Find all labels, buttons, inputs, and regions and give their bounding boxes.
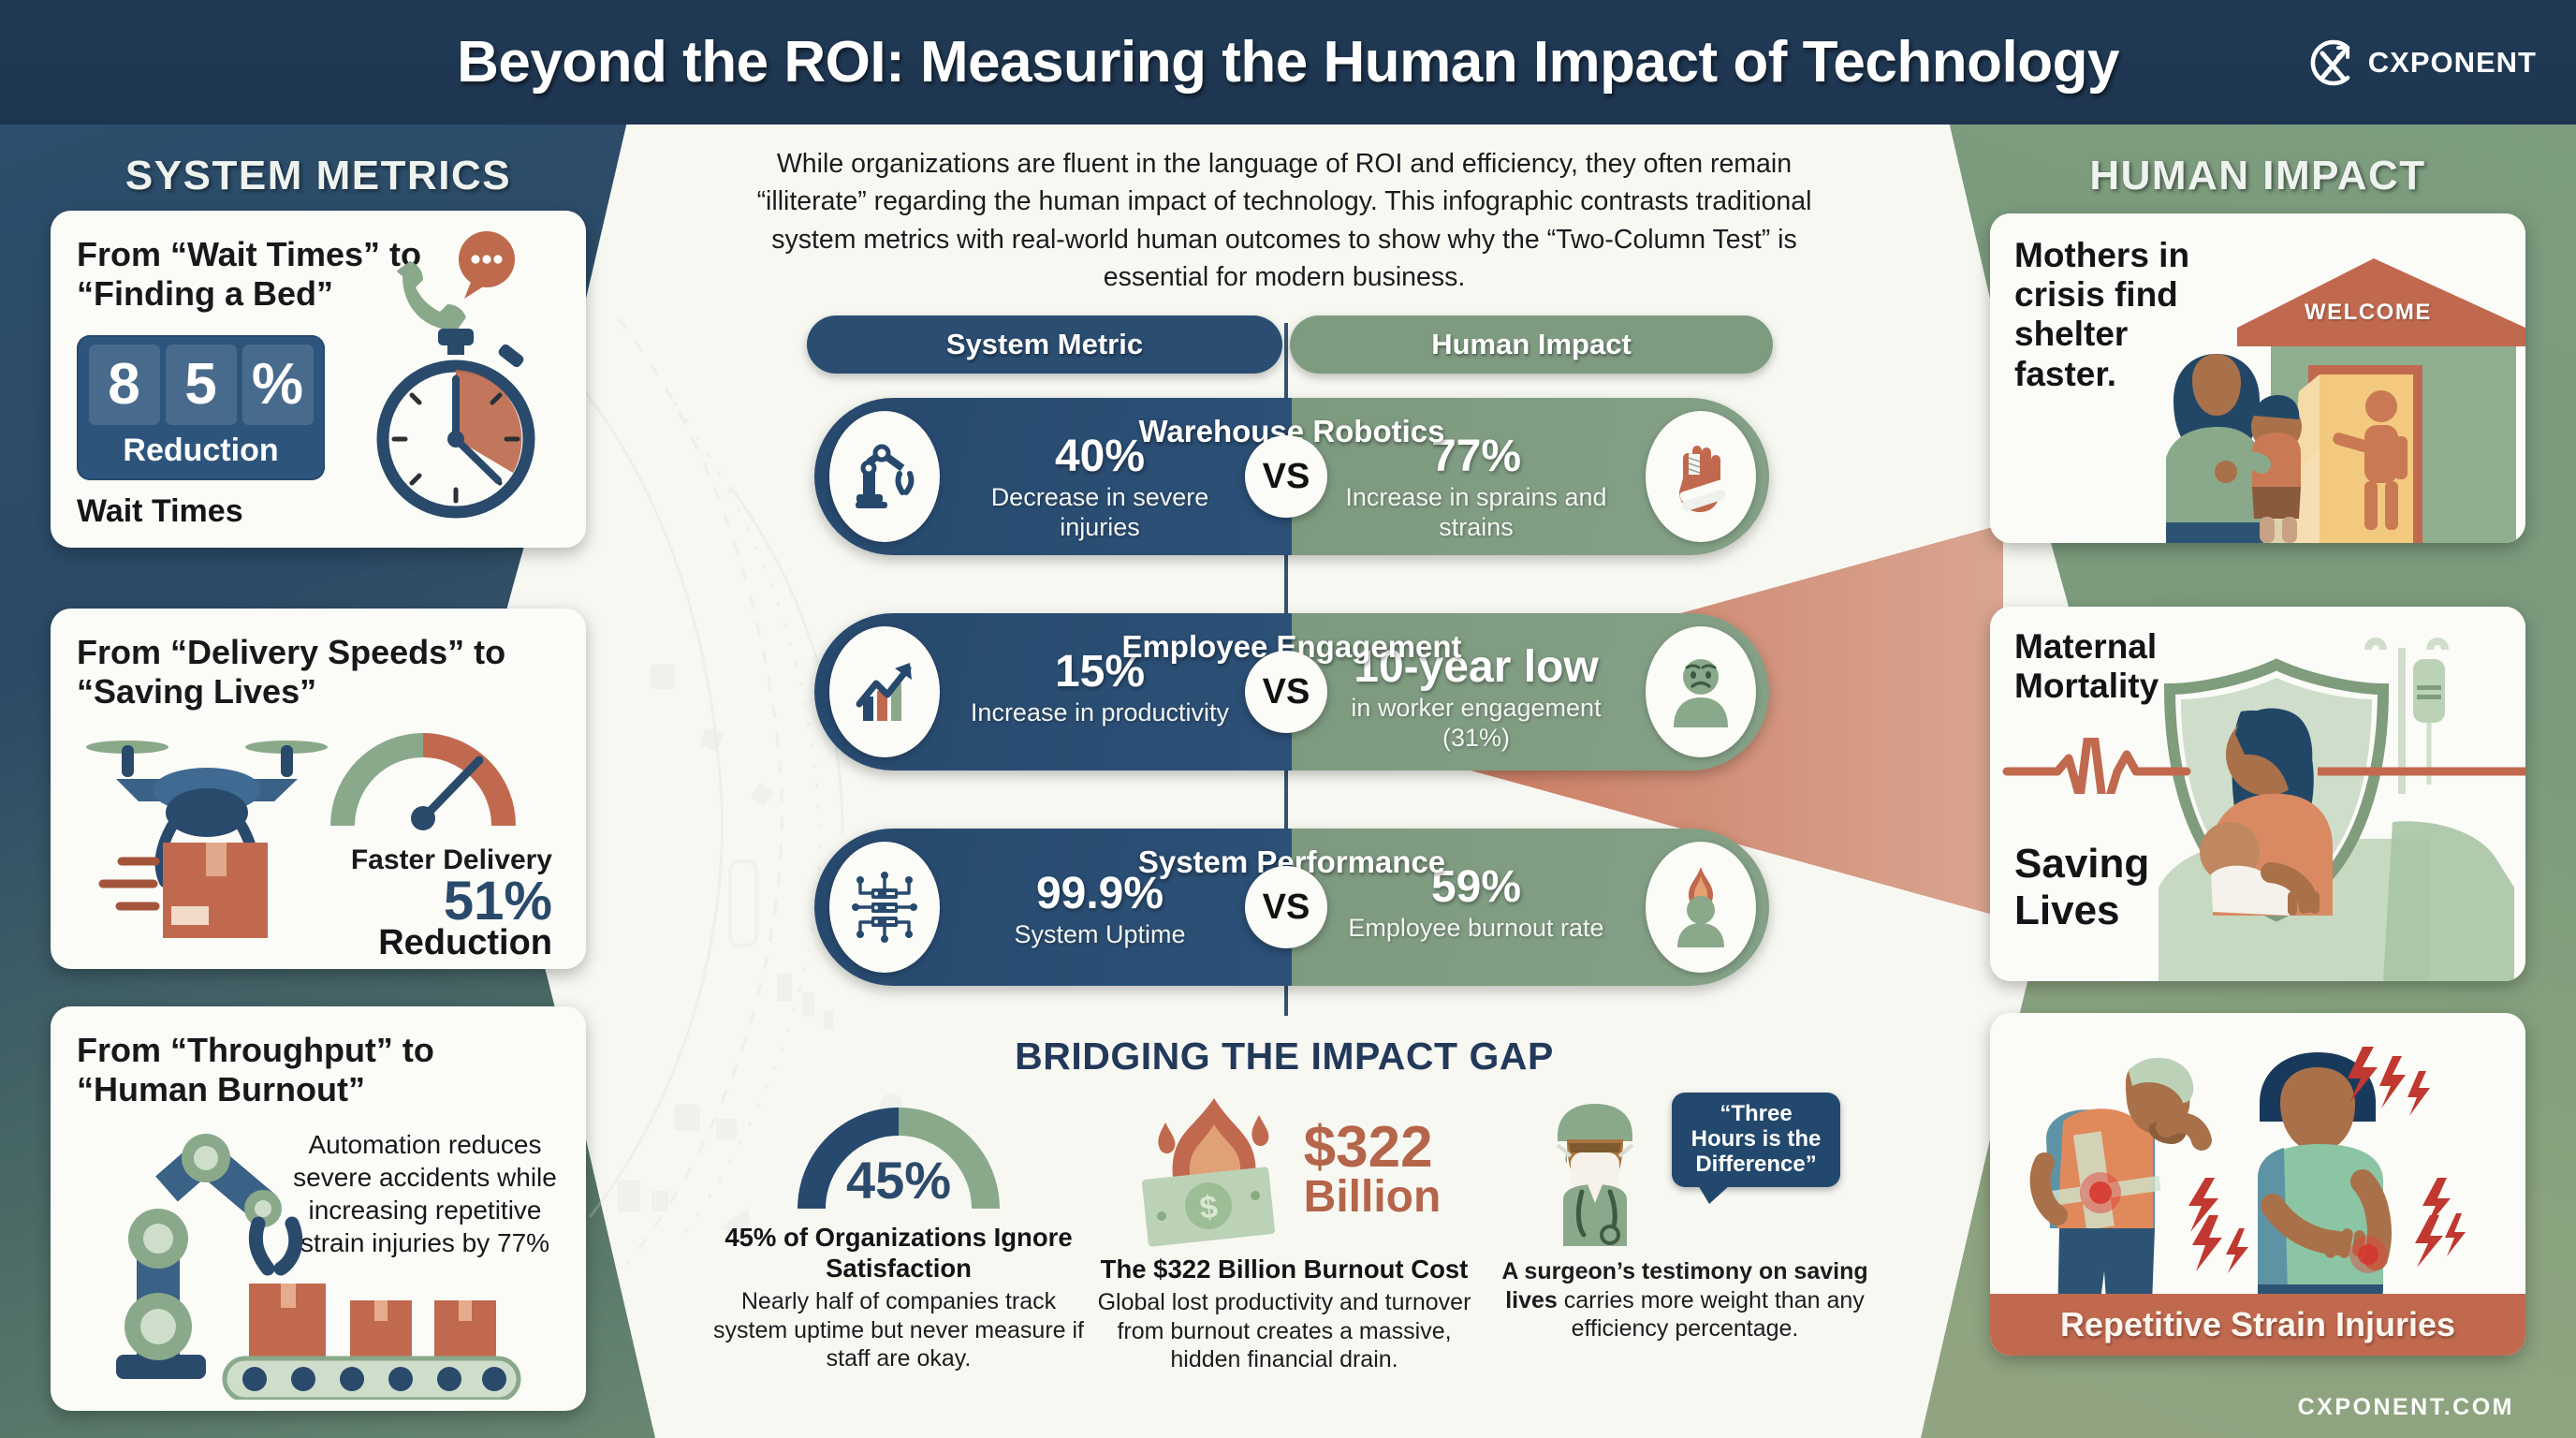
item-heading: The $322 Billion Burnout Cost [1097,1254,1471,1284]
welcome-sign-label: WELCOME [2305,300,2432,326]
stat-value: 77% [1340,433,1612,480]
flip-counter: 8 5 % Reduction [77,335,325,480]
item-body: Nearly half of companies track system up… [711,1287,1086,1373]
donut-chart-icon: 45% [791,1091,1006,1214]
robot-arm-icon [64,1119,586,1400]
pill-human-impact: Human Impact [1290,315,1773,374]
human-card-text: Mothers in crisis find shelter faster. [2014,236,2230,394]
vs-badge: VS [1245,866,1327,948]
flip-label: Reduction [86,433,315,469]
page-header: Beyond the ROI: Measuring the Human Impa… [0,0,2576,125]
burning-money-icon: $ [1128,1091,1296,1248]
stat-value: 10-year low [1322,644,1631,691]
row-right-stat: 77% Increase in sprains and strains [1340,433,1612,543]
logo-text: CXPONENT [2368,46,2537,80]
donut-value: 45% [791,1150,1006,1211]
package-icon [163,843,268,938]
stat-label: Increase in sprains and strains [1340,482,1612,543]
card-title: From “Delivery Speeds” to “Saving Lives” [51,609,586,712]
row-left-stat: 15% Increase in productivity [964,649,1236,727]
brand-logo[interactable]: CXPONENT [2305,35,2537,91]
stat-value: 40% [964,433,1236,480]
system-card-wait-times[interactable]: From “Wait Times” to “Finding a Bed” 8 5… [51,211,586,548]
human-card-strain-injuries[interactable]: Repetitive Strain Injuries [1990,1013,2525,1356]
flip-digit: % [242,345,314,425]
bridging-item-surgeon[interactable]: “Three Hours is the Difference” A surgeo… [1488,1091,1881,1343]
system-card-throughput[interactable]: From “Throughput” to “Human Burnout” Aut… [51,1006,586,1411]
stat-label: Employee burnout rate [1340,913,1612,943]
stat-value: 59% [1340,864,1612,911]
sad-person-icon [1646,626,1756,757]
item-body: A surgeon’s testimony on saving lives ca… [1488,1257,1881,1343]
card-ribbon-label: Repetitive Strain Injuries [1990,1294,2525,1356]
robot-arm-icon [829,411,940,542]
stat-value: 15% [964,649,1236,696]
stat-value: 99.9% [964,871,1236,917]
human-card-text-top: Maternal Mortality [2014,627,2202,706]
row-right-stat: 59% Employee burnout rate [1340,864,1612,943]
stopwatch-icon [367,323,545,524]
chat-bubble-icon [459,231,515,299]
stat-label: Decrease in severe injuries [964,482,1236,543]
pill-system-metric: System Metric [807,315,1282,374]
card-title: From “Throughput” to “Human Burnout” [51,1006,586,1110]
item-heading: 45% of Organizations Ignore Satisfaction [711,1222,1086,1284]
row-left-stat: 99.9% System Uptime [964,871,1236,949]
intro-paragraph: While organizations are fluent in the la… [726,145,1842,297]
item-heading-rest: carries more weight than any efficiency … [1558,1287,1865,1343]
bridging-section-title: BRIDGING THE IMPACT GAP [726,1034,1842,1078]
growth-chart-icon [829,626,940,757]
vs-badge: VS [1245,651,1327,733]
system-card-delivery-speeds[interactable]: From “Delivery Speeds” to “Saving Lives” [51,609,586,969]
amount-secondary: Billion [1304,1176,1442,1219]
svg-text:$: $ [1197,1189,1219,1226]
row-right-stat: 10-year low in worker engagement (31%) [1322,644,1631,754]
row-left-stat: 40% Decrease in severe injuries [964,433,1236,543]
cxponent-logo-icon [2305,35,2361,91]
surgeon-icon [1529,1094,1661,1248]
page-title: Beyond the ROI: Measuring the Human Impa… [457,29,2119,95]
human-card-text-bottom: Saving Lives [2014,841,2202,934]
burnout-flame-person-icon [1646,842,1756,973]
human-card-shelter[interactable]: Mothers in crisis find shelter faster. W… [1990,213,2525,543]
bridging-item-burnout-cost[interactable]: $ $322 Billion The $322 Billion Burnout … [1097,1091,1471,1374]
delivery-value-sub: Reduction [271,923,552,963]
item-body: Global lost productivity and turnover fr… [1097,1288,1471,1374]
amount-primary: $322 [1304,1121,1442,1176]
server-network-icon [829,842,940,973]
infographic-canvas: Beyond the ROI: Measuring the Human Impa… [0,0,2576,1438]
left-column-title: SYSTEM METRICS [56,153,580,199]
bridging-item-satisfaction[interactable]: 45% 45% of Organizations Ignore Satisfac… [711,1091,1086,1373]
right-column-title: HUMAN IMPACT [1996,153,2520,199]
gauge-icon [329,721,517,833]
stat-label: Increase in productivity [964,697,1236,727]
box-icon [249,1284,496,1357]
conveyor-belt-icon [225,1358,519,1400]
human-card-maternal[interactable]: Maternal Mortality Saving Lives [1990,607,2525,981]
flip-digit: 8 [89,345,160,425]
speech-bubble: “Three Hours is the Difference” [1672,1093,1840,1187]
flip-digit: 5 [166,345,237,425]
bandaged-hand-icon [1646,411,1756,542]
site-watermark: CXPONENT.COM [2298,1394,2514,1421]
delivery-value: 51% [271,874,552,929]
stat-label: in worker engagement (31%) [1322,693,1631,754]
money-amount: $322 Billion [1304,1121,1442,1218]
vs-badge: VS [1245,435,1327,518]
stat-label: System Uptime [964,919,1236,949]
